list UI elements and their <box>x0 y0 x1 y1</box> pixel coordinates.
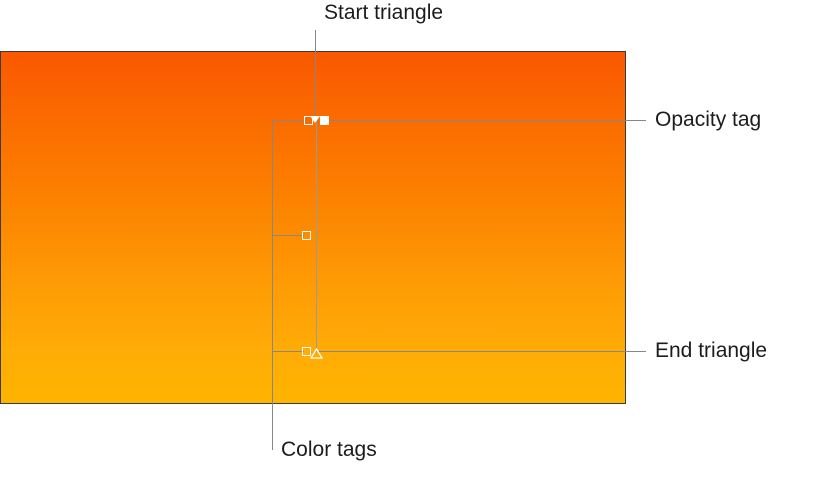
leader-line-color-tag-middle <box>272 235 304 236</box>
figure-canvas: Start triangle Opacity tag End triangle … <box>0 0 826 480</box>
color-tag-top-handle[interactable] <box>304 116 313 125</box>
leader-line-color-tag-bottom <box>272 351 304 352</box>
leader-line-color-tag-top <box>272 120 306 121</box>
callout-label-opacity-tag: Opacity tag <box>655 107 761 132</box>
callout-label-color-tags: Color tags <box>281 437 377 462</box>
gradient-tag-rail <box>316 120 317 352</box>
callout-label-end-triangle: End triangle <box>655 338 767 363</box>
opacity-tag-handle[interactable] <box>320 116 329 125</box>
color-tag-middle-handle[interactable] <box>302 231 311 240</box>
leader-line-opacity-tag <box>326 120 646 121</box>
leader-line-color-tags-vertical <box>272 120 273 450</box>
leader-line-start-triangle <box>315 30 316 120</box>
end-triangle-handle[interactable] <box>310 346 323 357</box>
end-triangle-icon <box>310 348 323 359</box>
callout-label-start-triangle: Start triangle <box>324 0 443 25</box>
leader-line-end-triangle <box>318 351 646 352</box>
